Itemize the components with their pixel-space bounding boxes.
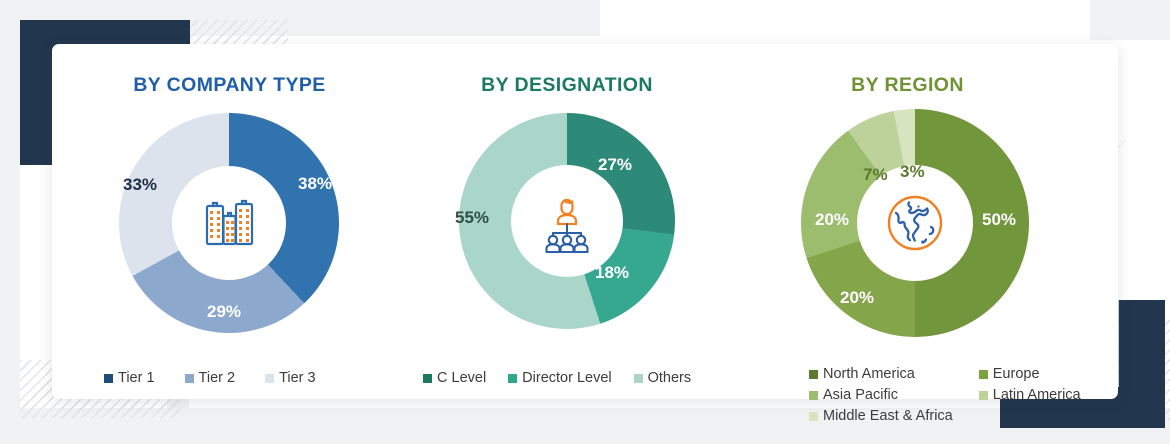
legend-swatch-tier-2 xyxy=(185,374,194,383)
slice-label-middle-east-africa: 3% xyxy=(900,163,925,180)
slice-label-tier-3: 33% xyxy=(123,176,157,193)
panel-title-company-type: BY COMPANY TYPE xyxy=(52,74,407,97)
legend-item-tier-2[interactable]: Tier 2 xyxy=(185,370,236,386)
legend-item-europe[interactable]: Europe xyxy=(979,366,1081,382)
legend-label-tier-1: Tier 1 xyxy=(118,370,155,386)
legend-item-asia-pacific[interactable]: Asia Pacific xyxy=(809,387,953,403)
slice-label-c-level: 27% xyxy=(598,156,632,173)
legend-item-tier-1[interactable]: Tier 1 xyxy=(104,370,155,386)
legend-label-middle-east-africa: Middle East & Africa xyxy=(823,408,953,424)
panel-title-designation: BY DESIGNATION xyxy=(407,74,727,97)
panel-title-region: BY REGION xyxy=(712,74,1103,97)
legend-label-north-america: North America xyxy=(823,366,915,382)
legend-swatch-tier-3 xyxy=(265,374,274,383)
donut-chart-region: 50% 20% 20% 7% 3% xyxy=(801,109,1029,337)
legend-label-latin-america: Latin America xyxy=(993,387,1081,403)
slice-label-others: 55% xyxy=(455,209,489,226)
left-grey-band xyxy=(0,0,20,420)
office-buildings-icon xyxy=(195,189,263,257)
donut-center-designation xyxy=(511,165,623,277)
legend-swatch-latin-america xyxy=(979,391,988,400)
legend-label-asia-pacific: Asia Pacific xyxy=(823,387,898,403)
legend-label-others: Others xyxy=(648,370,692,386)
slice-label-north-america: 50% xyxy=(982,211,1016,228)
legend-item-tier-3[interactable]: Tier 3 xyxy=(265,370,316,386)
panel-by-region: BY REGION xyxy=(727,44,1118,399)
legend-swatch-asia-pacific xyxy=(809,391,818,400)
legend-item-north-america[interactable]: North America xyxy=(809,366,953,382)
legend-swatch-others xyxy=(634,374,643,383)
dashboard-card: BY COMPANY TYPE xyxy=(52,44,1118,399)
legend-region: North America Europe Asia Pacific Latin … xyxy=(809,366,1081,424)
slice-label-tier-2: 29% xyxy=(207,303,241,320)
legend-label-tier-3: Tier 3 xyxy=(279,370,316,386)
slice-label-europe: 20% xyxy=(840,289,874,306)
slice-label-tier-1: 38% xyxy=(298,175,332,192)
donut-chart-designation: 27% 18% 55% xyxy=(459,113,675,329)
legend-item-others[interactable]: Others xyxy=(634,370,692,386)
slice-label-latin-america: 7% xyxy=(863,166,888,183)
legend-label-europe: Europe xyxy=(993,366,1040,382)
slice-label-director-level: 18% xyxy=(595,264,629,281)
legend-swatch-tier-1 xyxy=(104,374,113,383)
legend-label-tier-2: Tier 2 xyxy=(199,370,236,386)
legend-designation: C Level Director Level Others xyxy=(423,370,691,386)
legend-company-type: Tier 1 Tier 2 Tier 3 xyxy=(104,370,316,386)
donut-chart-company-type: 38% 29% 33% xyxy=(119,113,339,333)
slice-label-asia-pacific: 20% xyxy=(815,211,849,228)
legend-item-c-level[interactable]: C Level xyxy=(423,370,486,386)
globe-icon xyxy=(879,187,951,259)
legend-label-c-level: C Level xyxy=(437,370,486,386)
legend-swatch-europe xyxy=(979,370,988,379)
panel-by-designation: BY DESIGNATION xyxy=(407,44,727,399)
top-right-grey xyxy=(1090,0,1170,40)
org-chart-people-icon xyxy=(534,188,600,254)
panel-by-company-type: BY COMPANY TYPE xyxy=(52,44,407,399)
legend-swatch-director-level xyxy=(508,374,517,383)
legend-item-middle-east-africa[interactable]: Middle East & Africa xyxy=(809,408,953,424)
legend-item-director-level[interactable]: Director Level xyxy=(508,370,611,386)
legend-swatch-c-level xyxy=(423,374,432,383)
donut-center-company-type xyxy=(172,166,286,280)
legend-swatch-middle-east-africa xyxy=(809,412,818,421)
legend-item-latin-america[interactable]: Latin America xyxy=(979,387,1081,403)
legend-swatch-north-america xyxy=(809,370,818,379)
legend-label-director-level: Director Level xyxy=(522,370,611,386)
